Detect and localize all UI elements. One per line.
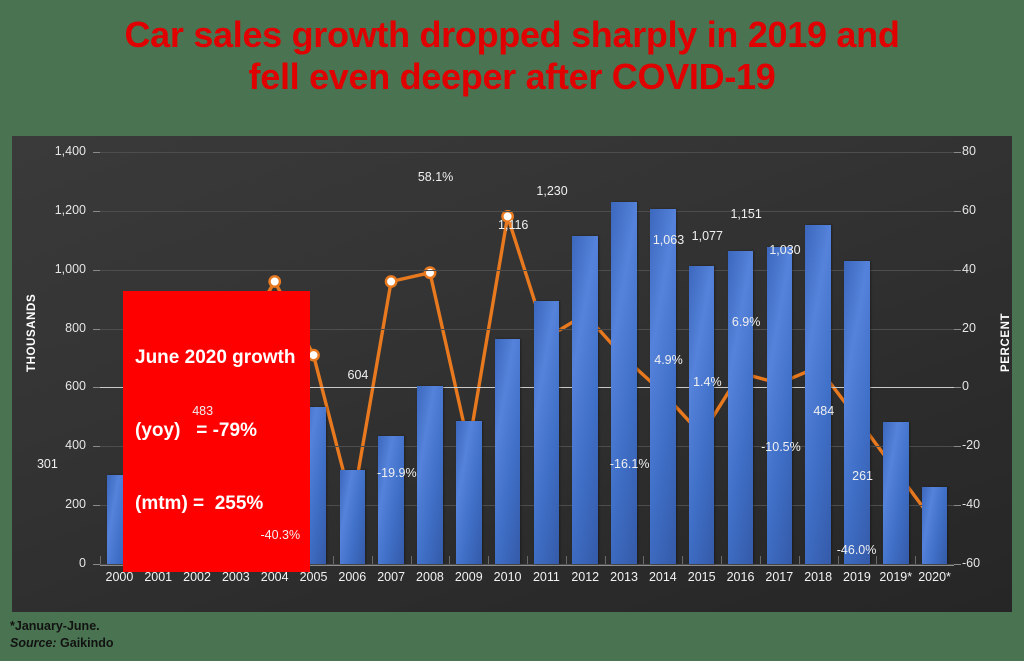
bar-2015[interactable] bbox=[689, 266, 715, 564]
growth-value-label: 6.9% bbox=[701, 315, 791, 329]
x-axis-tick bbox=[760, 556, 761, 564]
bar-2009[interactable] bbox=[456, 421, 482, 564]
y-axis-label-left: 0 bbox=[26, 556, 86, 570]
bar-2020-partial[interactable] bbox=[922, 487, 948, 564]
y-axis-label-left: 200 bbox=[26, 497, 86, 511]
y-axis-label-right: -40 bbox=[962, 497, 1012, 511]
bar-2010[interactable] bbox=[495, 339, 521, 564]
callout-line-2: (yoy) = -79% bbox=[135, 419, 296, 443]
growth-value-label: 58.1% bbox=[391, 170, 481, 184]
growth-value-label: -16.1% bbox=[585, 457, 675, 471]
bar-value-label: 301 bbox=[12, 457, 87, 471]
y-tick-left bbox=[93, 152, 100, 153]
y-axis-label-left: 800 bbox=[26, 321, 86, 335]
page-title: Car sales growth dropped sharply in 2019… bbox=[0, 14, 1024, 98]
bar-2007[interactable] bbox=[378, 436, 404, 564]
y-tick-left bbox=[93, 446, 100, 447]
bar-value-label: 484 bbox=[784, 404, 864, 418]
y-tick-left bbox=[93, 387, 100, 388]
source-prefix: Source: bbox=[10, 636, 57, 650]
x-axis-label-2020-partial: 2020* bbox=[895, 570, 975, 584]
x-axis-tick bbox=[876, 556, 877, 564]
bar-value-label: 1,077 bbox=[667, 229, 747, 243]
growth-marker-2005[interactable] bbox=[308, 350, 318, 360]
bar-value-label: 1,230 bbox=[512, 184, 592, 198]
bar-value-label: 1,116 bbox=[473, 218, 553, 232]
bar-value-label: 483 bbox=[163, 404, 243, 418]
y-tick-left bbox=[93, 564, 100, 565]
y-axis-label-right: -20 bbox=[962, 438, 1012, 452]
x-axis-tick bbox=[488, 556, 489, 564]
y-tick-left bbox=[93, 270, 100, 271]
y-tick-right bbox=[954, 505, 961, 506]
y-tick-left bbox=[93, 505, 100, 506]
y-axis-label-right: 0 bbox=[962, 379, 1012, 393]
y-axis-label-left: 1,200 bbox=[26, 203, 86, 217]
y-axis-label-left: 1,400 bbox=[26, 144, 86, 158]
x-axis-tick bbox=[566, 556, 567, 564]
y-tick-right bbox=[954, 211, 961, 212]
y-tick-right bbox=[954, 152, 961, 153]
growth-marker-2007[interactable] bbox=[386, 276, 396, 286]
bar-value-label: 1,151 bbox=[706, 207, 786, 221]
bar-2013[interactable] bbox=[611, 202, 637, 564]
bar-value-label: 1,030 bbox=[745, 243, 825, 257]
y-tick-right bbox=[954, 446, 961, 447]
callout-line-1: June 2020 growth bbox=[135, 346, 296, 370]
y-axis-label-left: 1,000 bbox=[26, 262, 86, 276]
y-tick-left bbox=[93, 211, 100, 212]
y-axis-label-right: 40 bbox=[962, 262, 1012, 276]
growth-value-label: 4.9% bbox=[624, 353, 714, 367]
x-axis-tick bbox=[411, 556, 412, 564]
callout-line-3: (mtm) = 255% bbox=[135, 492, 296, 516]
growth-value-label: -19.9% bbox=[352, 466, 442, 480]
y-axis-label-right: -60 bbox=[962, 556, 1012, 570]
y-tick-right bbox=[954, 387, 961, 388]
bar-2006[interactable] bbox=[340, 470, 366, 564]
gridline bbox=[100, 152, 954, 153]
y-axis-label-left: 600 bbox=[26, 379, 86, 393]
footer-notes: *January-June. Source: Gaikindo bbox=[10, 618, 114, 652]
x-axis-tick bbox=[799, 556, 800, 564]
x-axis-tick bbox=[449, 556, 450, 564]
x-axis-tick bbox=[605, 556, 606, 564]
x-axis-tick bbox=[915, 556, 916, 564]
y-tick-right bbox=[954, 329, 961, 330]
bar-value-label: 604 bbox=[318, 368, 398, 382]
y-axis-label-right: 60 bbox=[962, 203, 1012, 217]
growth-marker-2004[interactable] bbox=[270, 276, 280, 286]
growth-value-label: -46.0% bbox=[812, 543, 902, 557]
x-axis-tick bbox=[100, 556, 101, 564]
y-axis-label-left: 400 bbox=[26, 438, 86, 452]
gridline bbox=[100, 211, 954, 212]
x-axis-tick bbox=[682, 556, 683, 564]
bar-2018[interactable] bbox=[805, 225, 831, 564]
source-name: Gaikindo bbox=[57, 636, 114, 650]
footnote-asterisk: *January-June. bbox=[10, 618, 114, 635]
bar-2012[interactable] bbox=[572, 236, 598, 564]
bar-value-label: 261 bbox=[823, 469, 903, 483]
chart-panel: THOUSANDS PERCENT 2000200120022003200420… bbox=[12, 136, 1012, 612]
bar-2011[interactable] bbox=[534, 301, 560, 564]
x-axis-tick bbox=[372, 556, 373, 564]
bar-2016[interactable] bbox=[728, 251, 754, 564]
x-axis-tick bbox=[838, 556, 839, 564]
x-axis-tick bbox=[527, 556, 528, 564]
growth-value-label: -10.5% bbox=[736, 440, 826, 454]
growth-value-label: 1.4% bbox=[662, 375, 752, 389]
y-axis-label-right: 20 bbox=[962, 321, 1012, 335]
x-axis-tick bbox=[643, 556, 644, 564]
x-axis-tick bbox=[333, 556, 334, 564]
x-axis-tick bbox=[721, 556, 722, 564]
y-tick-right bbox=[954, 270, 961, 271]
y-tick-left bbox=[93, 329, 100, 330]
y-tick-right bbox=[954, 564, 961, 565]
y-axis-label-right: 80 bbox=[962, 144, 1012, 158]
source-line: Source: Gaikindo bbox=[10, 635, 114, 652]
growth-value-label: -40.3% bbox=[235, 528, 325, 542]
